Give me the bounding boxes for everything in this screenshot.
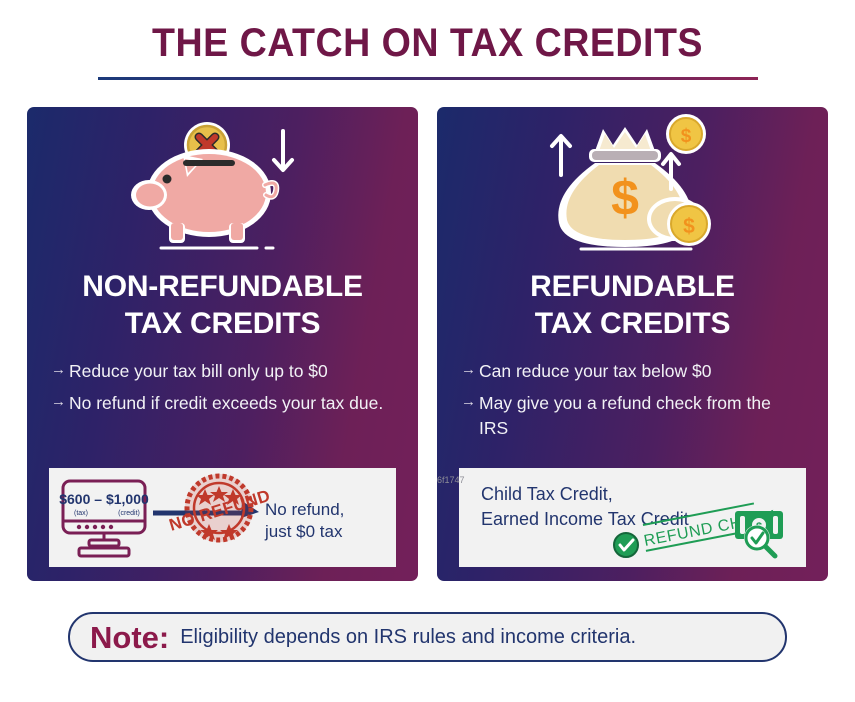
bullet-text: Reduce your tax bill only up to $0	[69, 361, 328, 381]
svg-text:$: $	[683, 215, 695, 238]
example-line-1: Child Tax Credit,	[481, 484, 613, 504]
result-line-1: No refund,	[265, 500, 344, 519]
bullet-list-refundable: → Can reduce your tax below $0 → May giv…	[437, 359, 828, 441]
money-bag-illustration: $ $ $	[437, 107, 828, 265]
heading-line-1: REFUNDABLE	[437, 269, 828, 306]
bullet-item: → Reduce your tax bill only up to $0	[51, 359, 394, 384]
cards-container: NON-REFUNDABLE TAX CREDITS → Reduce your…	[0, 107, 855, 581]
bullet-item: → Can reduce your tax below $0	[461, 359, 804, 384]
bullet-text: May give you a refund check from the IRS	[479, 393, 771, 438]
note-label: Note:	[90, 622, 169, 653]
piggy-bank-illustration	[27, 107, 418, 265]
card-heading-refundable: REFUNDABLE TAX CREDITS	[437, 269, 828, 342]
arrow-marker-icon: →	[461, 391, 476, 412]
arrow-marker-icon: →	[461, 359, 476, 380]
check-badge-icon	[614, 533, 638, 557]
heading-line-1: NON-REFUNDABLE	[27, 269, 418, 306]
panel-non-refundable-example: $600 – $1,000 (tax) (credit)	[49, 468, 396, 567]
monitor-label-credit: (credit)	[118, 510, 140, 517]
bullet-item: → May give you a refund check from the I…	[461, 391, 804, 441]
banknote-magnifier-icon: $	[735, 511, 783, 556]
result-line-2: just $0 tax	[264, 522, 343, 541]
svg-text:$: $	[611, 170, 639, 226]
arrow-marker-icon: →	[51, 359, 66, 380]
refund-check-diagram: Child Tax Credit, Earned Income Tax Cred…	[459, 468, 806, 567]
monitor-label-tax: (tax)	[74, 510, 88, 517]
bullet-list-non-refundable: → Reduce your tax bill only up to $0 → N…	[27, 359, 418, 416]
artifact-text: 6f1747	[437, 475, 465, 485]
page-title: THE CATCH ON TAX CREDITS	[26, 22, 830, 64]
example-line-2: Earned Income Tax Credit	[481, 509, 689, 529]
no-refund-diagram: $600 – $1,000 (tax) (credit)	[49, 468, 396, 567]
title-divider	[98, 77, 758, 80]
monitor-amount: $600 – $1,000	[59, 491, 149, 507]
note-bar: Note: Eligibility depends on IRS rules a…	[68, 612, 787, 662]
bullet-item: → No refund if credit exceeds your tax d…	[51, 391, 394, 416]
bullet-text: Can reduce your tax below $0	[479, 361, 712, 381]
no-refund-stamp: NO REFUND	[167, 474, 273, 542]
card-heading-non-refundable: NON-REFUNDABLE TAX CREDITS	[27, 269, 418, 342]
svg-text:$: $	[680, 126, 691, 147]
note-text: Eligibility depends on IRS rules and inc…	[180, 627, 636, 647]
bullet-text: No refund if credit exceeds your tax due…	[69, 393, 383, 413]
card-refundable[interactable]: $ $ $	[437, 107, 828, 581]
heading-line-2: TAX CREDITS	[27, 306, 418, 343]
money-bag-with-coins-icon: $ $ $	[523, 107, 743, 265]
heading-line-2: TAX CREDITS	[437, 306, 828, 343]
header: THE CATCH ON TAX CREDITS	[0, 0, 855, 80]
card-non-refundable[interactable]: NON-REFUNDABLE TAX CREDITS → Reduce your…	[27, 107, 418, 581]
panel-refundable-example: Child Tax Credit, Earned Income Tax Cred…	[459, 468, 806, 567]
arrow-marker-icon: →	[51, 391, 66, 412]
piggy-bank-with-rejected-coin-icon	[123, 107, 323, 265]
